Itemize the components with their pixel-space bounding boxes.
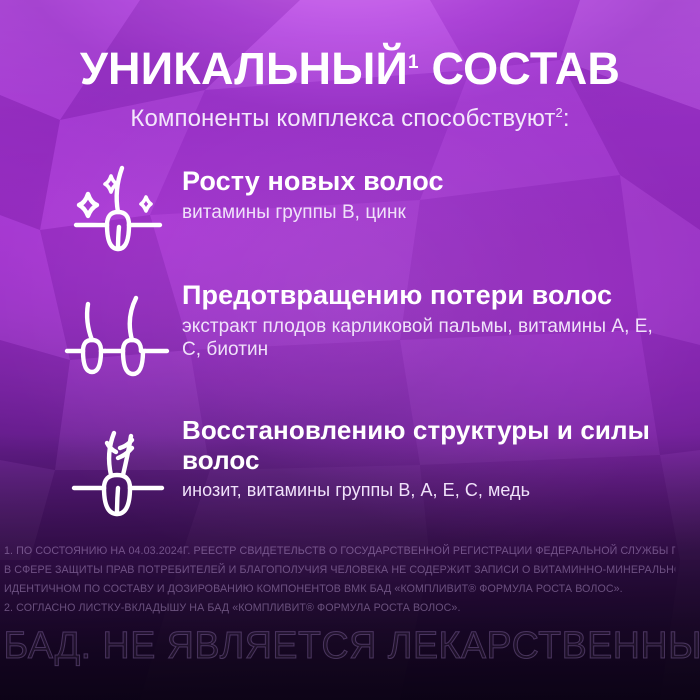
benefits-list: Росту новых волос витамины группы В, цин… xyxy=(54,158,670,546)
benefit-ingredients: экстракт плодов карликовой пальмы, витам… xyxy=(182,316,670,362)
footnotes-block: 1. ПО СОСТОЯНИЮ НА 04.03.2024Г. РЕЕСТР С… xyxy=(4,542,675,618)
benefit-ingredients: инозит, витамины группы В, А, Е, С, медь xyxy=(182,480,670,502)
page-subtitle-footnote-marker: 2 xyxy=(555,105,562,120)
promo-poster: УНИКАЛЬНЫЙ1 СОСТАВ Компоненты комплекса … xyxy=(0,0,700,700)
page-title: УНИКАЛЬНЫЙ1 СОСТАВ xyxy=(0,0,700,93)
legal-disclaimer: БАД. НЕ ЯВЛЯЕТСЯ ЛЕКАРСТВЕННЫМ СРЕДСТВОМ xyxy=(4,625,697,668)
benefit-item: Предотвращению потери волос экстракт пло… xyxy=(54,280,670,398)
hair-follicle-sparkle-icon xyxy=(54,158,182,262)
footnote-line: В СФЕРЕ ЗАЩИТЫ ПРАВ ПОТРЕБИТЕЛЕЙ И БЛАГО… xyxy=(4,561,675,580)
split-hair-follicle-icon xyxy=(54,416,182,528)
benefit-heading: Восстановлению структуры и силы волос xyxy=(182,416,670,475)
benefit-heading: Предотвращению потери волос xyxy=(182,280,670,311)
benefit-ingredients: витамины группы В, цинк xyxy=(182,202,444,225)
benefit-item: Росту новых волос витамины группы В, цин… xyxy=(54,158,670,262)
page-title-footnote-marker: 1 xyxy=(408,52,419,73)
benefit-texts: Росту новых волос витамины группы В, цин… xyxy=(182,158,444,225)
page-title-tail: СОСТАВ xyxy=(419,43,620,94)
poster-header: УНИКАЛЬНЫЙ1 СОСТАВ Компоненты комплекса … xyxy=(0,0,700,133)
benefit-item: Восстановлению структуры и силы волос ин… xyxy=(54,416,670,528)
page-title-text: УНИКАЛЬНЫЙ xyxy=(80,43,408,94)
benefit-heading: Росту новых волос xyxy=(182,166,444,197)
page-subtitle: Компоненты комплекса способствуют2: xyxy=(0,105,700,133)
footnote-line: 2. СОГЛАСНО ЛИСТКУ-ВКЛАДЫШУ НА БАД «КОМП… xyxy=(4,599,675,618)
page-subtitle-tail: : xyxy=(563,105,570,132)
benefit-texts: Восстановлению структуры и силы волос ин… xyxy=(182,416,670,502)
footnote-line: ИДЕНТИЧНОМ ПО СОСТАВУ И ДОЗИРОВАНИЮ КОМП… xyxy=(4,580,675,599)
page-subtitle-text: Компоненты комплекса способствуют xyxy=(130,105,555,132)
footnote-line: 1. ПО СОСТОЯНИЮ НА 04.03.2024Г. РЕЕСТР С… xyxy=(4,542,675,561)
two-hair-follicles-icon xyxy=(54,280,182,398)
benefit-texts: Предотвращению потери волос экстракт пло… xyxy=(182,280,670,361)
